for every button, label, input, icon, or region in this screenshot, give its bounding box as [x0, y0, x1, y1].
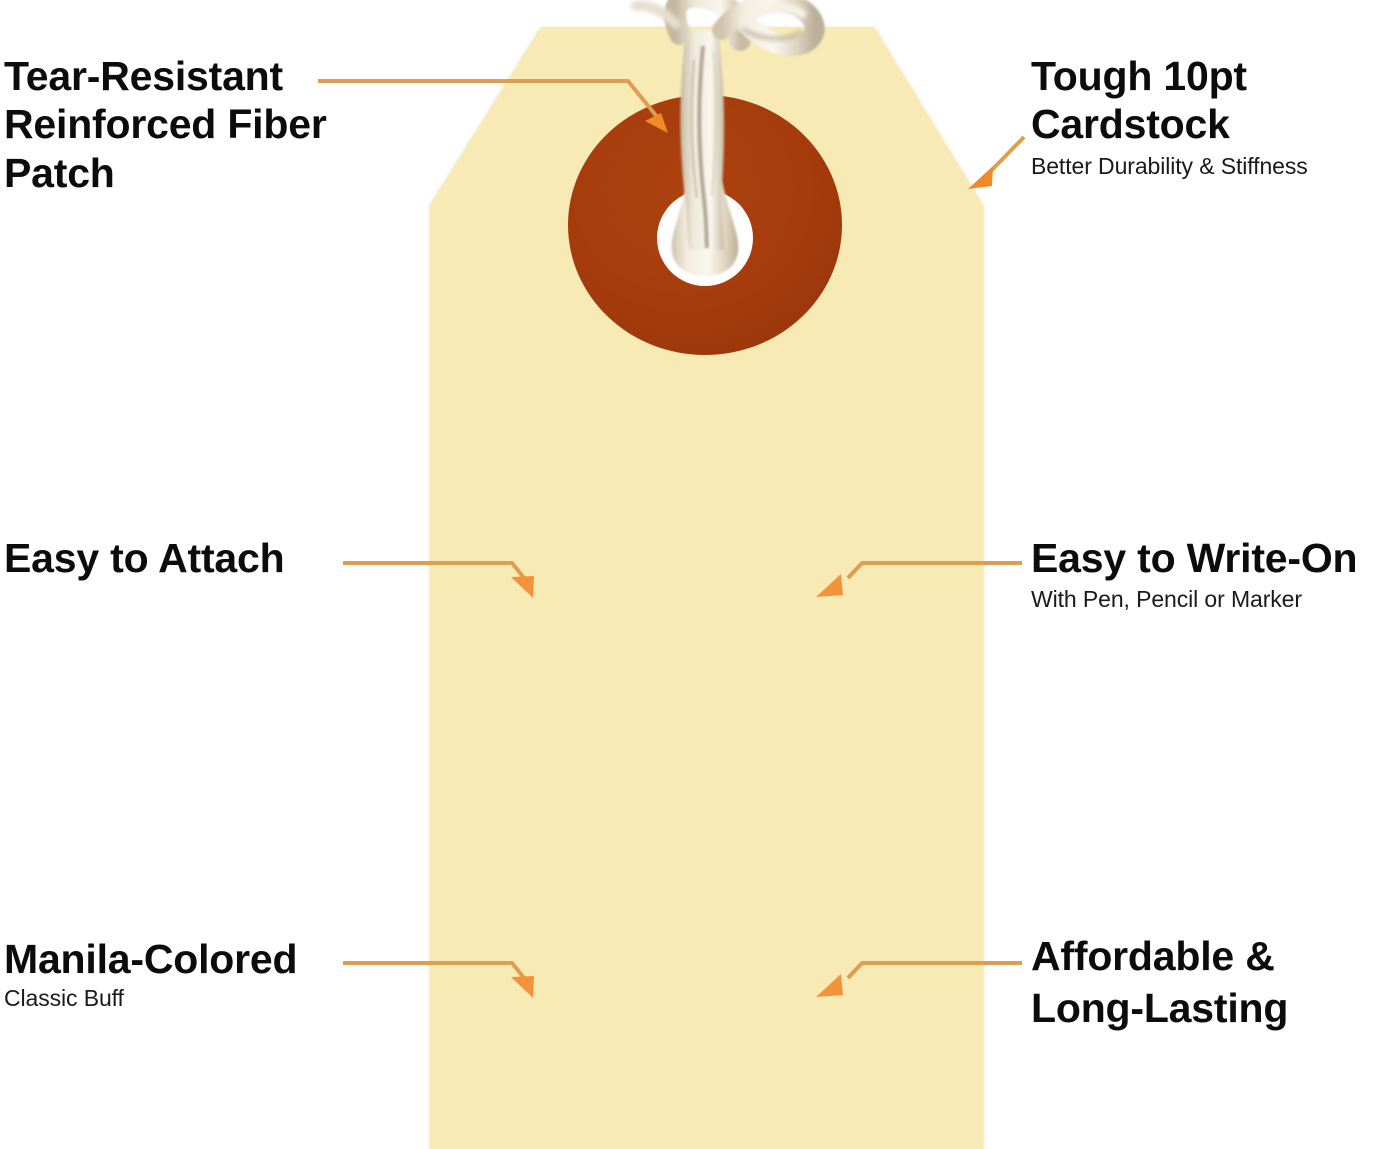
callout-tear-resistant: Tear-Resistant Reinforced Fiber Patch [4, 52, 404, 197]
callout-title-affordable-long-lasting: Affordable & Long-Lasting [1031, 930, 1391, 1035]
callout-title-tear-resistant: Tear-Resistant Reinforced Fiber Patch [4, 52, 404, 197]
callout-tough-cardstock: Tough 10pt Cardstock Better Durability &… [1031, 52, 1387, 180]
callout-subtitle-manila-colored: Classic Buff [4, 985, 364, 1013]
callout-title-easy-write-on: Easy to Write-On [1031, 534, 1391, 582]
callout-title-easy-attach: Easy to Attach [4, 534, 364, 582]
arrow-pointer-icon [968, 166, 993, 189]
callout-manila-colored: Manila-Colored Classic Buff [4, 935, 364, 1013]
callout-easy-attach: Easy to Attach [4, 534, 364, 582]
callout-title-manila-colored: Manila-Colored [4, 935, 364, 983]
callout-affordable-long-lasting: Affordable & Long-Lasting [1031, 930, 1391, 1035]
string-knot-highlight [748, 8, 802, 18]
callout-title-tough-cardstock: Tough 10pt Cardstock [1031, 52, 1387, 149]
callout-subtitle-easy-write-on: With Pen, Pencil or Marker [1031, 586, 1391, 614]
callout-easy-write-on: Easy to Write-On With Pen, Pencil or Mar… [1031, 534, 1391, 614]
leader-line-tough-cardstock [968, 137, 1024, 189]
product-feature-callout-graphic: Tear-Resistant Reinforced Fiber Patch To… [0, 0, 1391, 1149]
callout-subtitle-tough-cardstock: Better Durability & Stiffness [1031, 153, 1387, 181]
